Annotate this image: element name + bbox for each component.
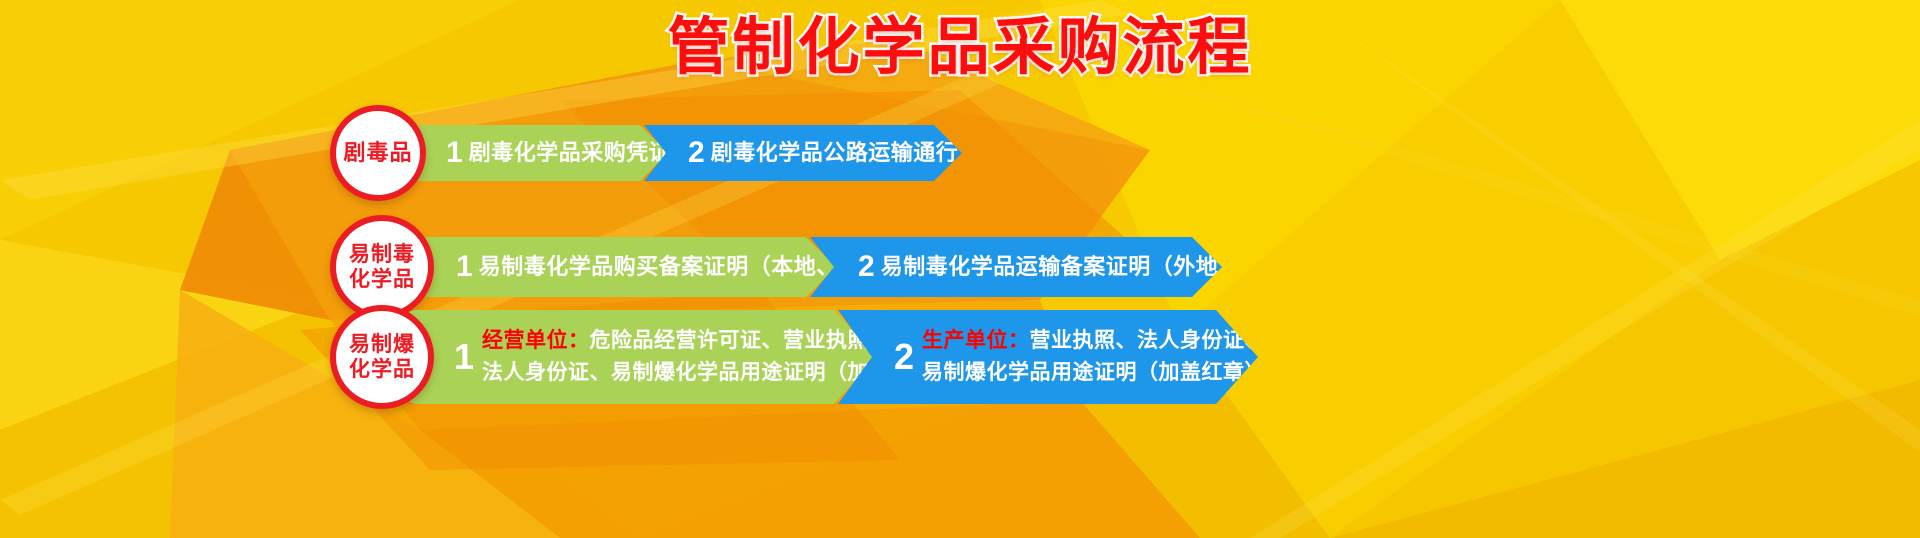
step-number: 1 <box>456 252 473 282</box>
step-explosive-1[interactable]: 1 经营单位：危险品经营许可证、营业执照、 法人身份证、易制爆化学品用途证明（加… <box>406 310 876 404</box>
step-label-line2: 易制爆化学品用途证明（加盖红章） <box>922 357 1266 389</box>
step-label: 生产单位：营业执照、法人身份证、 易制爆化学品用途证明（加盖红章） <box>922 325 1266 389</box>
category-badge-precursor-line2: 化学品 <box>349 267 415 292</box>
step-label: 易制毒化学品运输备案证明（外地） <box>881 252 1241 282</box>
flow-row-precursor: 易制毒 化学品 1 易制毒化学品购买备案证明（本地、外地） 2 易制毒化学品运输… <box>330 215 1222 319</box>
step-number: 2 <box>894 339 914 375</box>
step-label-prefix: 生产单位： <box>922 329 1030 352</box>
step-label-prefix: 经营单位： <box>482 329 590 352</box>
step-precursor-1[interactable]: 1 易制毒化学品购买备案证明（本地、外地） <box>406 237 836 297</box>
step-label-line1-text: 营业执照、法人身份证、 <box>1030 329 1267 352</box>
step-toxic-2[interactable]: 2 剧毒化学品公路运输通行证 <box>644 125 962 181</box>
category-badge-explosive: 易制爆 化学品 <box>330 305 434 409</box>
step-label-line1-text: 危险品经营许可证、营业执照、 <box>590 329 891 352</box>
step-label: 剧毒化学品公路运输通行证 <box>711 138 981 168</box>
category-badge-toxic: 剧毒品 <box>330 105 426 201</box>
category-badge-toxic-line1: 剧毒品 <box>343 140 412 166</box>
category-badge-precursor: 易制毒 化学品 <box>330 215 434 319</box>
banner-stage: 管制化学品采购流程 剧毒品 1 剧毒化学品采购凭证 2 剧毒化学品公路运输通行证… <box>0 0 1920 538</box>
step-number: 2 <box>858 252 875 282</box>
step-number: 1 <box>454 339 474 375</box>
category-badge-explosive-line2: 化学品 <box>349 357 415 382</box>
step-label-line1: 生产单位：营业执照、法人身份证、 <box>922 325 1266 357</box>
step-number: 1 <box>446 138 463 168</box>
flow-row-toxic: 剧毒品 1 剧毒化学品采购凭证 2 剧毒化学品公路运输通行证 <box>330 105 962 201</box>
step-explosive-2[interactable]: 2 生产单位：营业执照、法人身份证、 易制爆化学品用途证明（加盖红章） <box>838 310 1258 404</box>
flow-row-explosive: 易制爆 化学品 1 经营单位：危险品经营许可证、营业执照、 法人身份证、易制爆化… <box>330 305 1258 409</box>
page-title: 管制化学品采购流程 <box>0 12 1920 84</box>
category-badge-precursor-line1: 易制毒 <box>349 242 415 267</box>
step-label: 剧毒化学品采购凭证 <box>469 138 672 168</box>
step-toxic-1[interactable]: 1 剧毒化学品采购凭证 <box>400 125 668 181</box>
step-precursor-2[interactable]: 2 易制毒化学品运输备案证明（外地） <box>810 237 1222 297</box>
step-number: 2 <box>688 138 705 168</box>
category-badge-explosive-line1: 易制爆 <box>349 332 415 357</box>
